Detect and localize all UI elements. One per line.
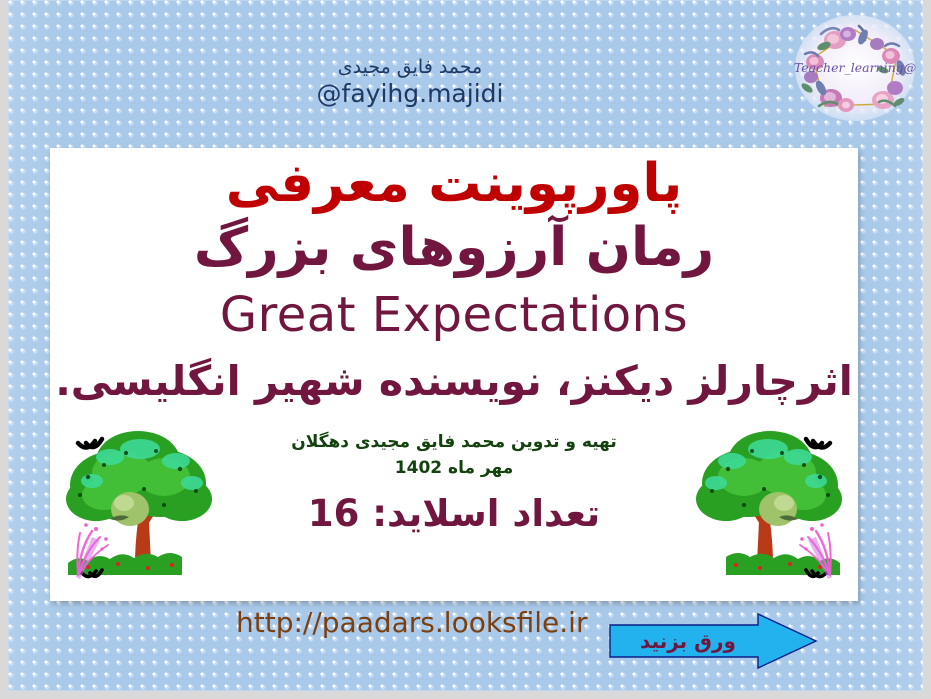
preparation-credit-line-1: تهیه و تدوین محمد فایق مجیدی دهگلان — [50, 430, 858, 456]
footer-url-link[interactable]: http://paadars.looksfile.ir — [236, 606, 587, 639]
header-persian-name: محمد فایق مجیدی — [0, 56, 820, 78]
content-card: پاورپوینت معرفی رمان آرزوهای بزرگ Great … — [50, 148, 858, 601]
header-instagram-handle: @fayihg.majidi — [0, 79, 820, 109]
header-credit: محمد فایق مجیدی @fayihg.majidi — [0, 56, 820, 109]
teacher-learning-logo-icon[interactable]: @Teacher_learning — [791, 10, 919, 126]
logo-text: @Teacher_learning — [794, 60, 916, 75]
preparation-credit-date: مهر ماه 1402 — [50, 456, 858, 482]
preparation-credit: تهیه و تدوین محمد فایق مجیدی دهگلان مهر … — [50, 430, 858, 481]
slide-canvas: محمد فایق مجیدی @fayihg.majidi — [0, 0, 931, 699]
next-page-arrow-button[interactable] — [608, 612, 818, 670]
title-line-author-description: اثرچارلز دیکنز، نویسنده شهیر انگلیسی. — [50, 360, 858, 403]
title-line-novel-name-persian: رمان آرزوهای بزرگ — [50, 220, 858, 276]
title-line-powerpoint-intro: پاورپوینت معرفی — [50, 156, 858, 212]
title-line-novel-name-english: Great Expectations — [50, 290, 858, 340]
slide-count-label: تعداد اسلاید: 16 — [50, 492, 858, 535]
